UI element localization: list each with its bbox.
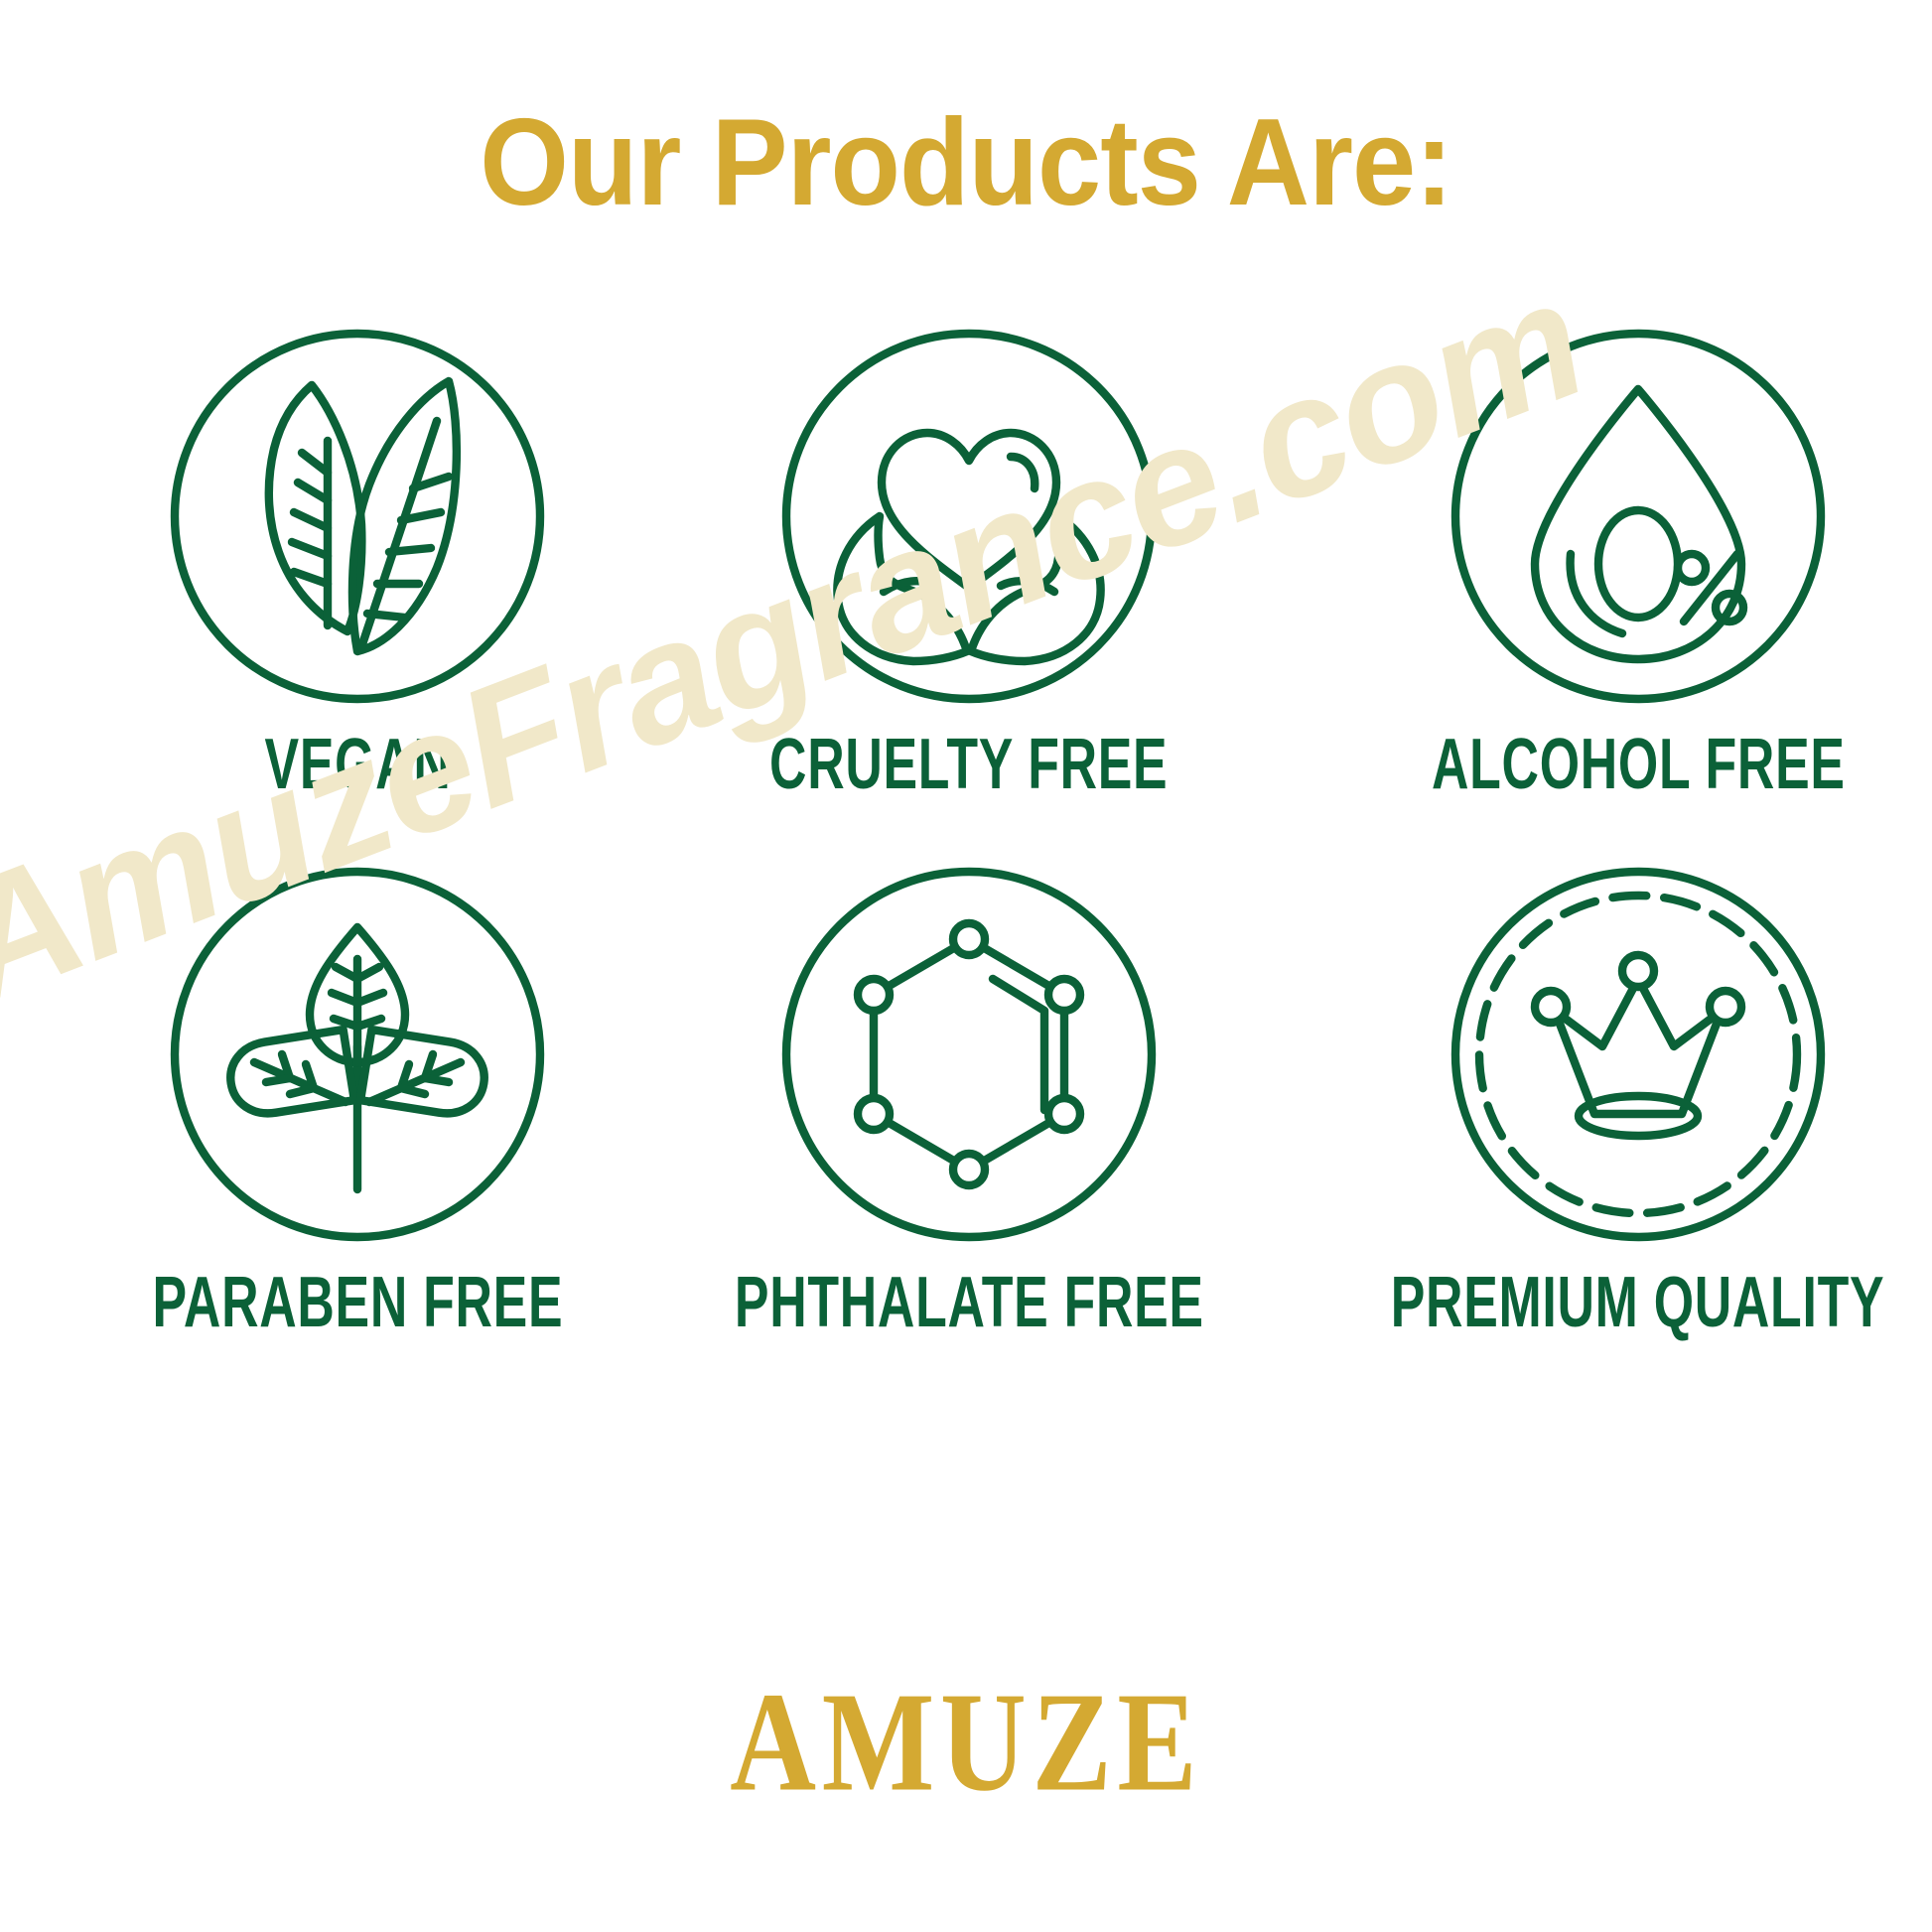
badge-label-premium-quality: PREMIUM QUALITY — [1391, 1267, 1885, 1338]
crown-icon — [1440, 856, 1837, 1253]
badge-phthalate-free[interactable]: PHTHALATE FREE — [643, 856, 1296, 1338]
brand-logo-text: AMUZE — [730, 1671, 1202, 1813]
badge-premium-quality[interactable]: PREMIUM QUALITY — [1295, 856, 1932, 1338]
molecule-hexagon-icon — [770, 856, 1168, 1253]
badge-label-cruelty-free: CRUELTY FREE — [769, 729, 1168, 800]
badge-alcohol-free[interactable]: ALCOHOL FREE — [1295, 318, 1932, 800]
two-leaves-icon — [159, 318, 556, 715]
badge-cruelty-free[interactable]: CRUELTY FREE — [643, 318, 1296, 800]
heart-in-hands-icon — [770, 318, 1168, 715]
badge-label-phthalate-free: PHTHALATE FREE — [735, 1267, 1204, 1338]
badge-paraben-free[interactable]: PARABEN FREE — [72, 856, 643, 1338]
poster-canvas: Our Products Are: — [0, 0, 1932, 1932]
page-title: Our Products Are: — [68, 95, 1864, 230]
badge-grid: VEGAN CRUELTY FREE — [72, 318, 1860, 1338]
water-drop-zero-percent-icon — [1440, 318, 1837, 715]
badge-label-alcohol-free: ALCOHOL FREE — [1432, 729, 1846, 800]
brand-logo: AMUZE — [0, 1686, 1932, 1813]
plant-sprout-icon — [159, 856, 556, 1253]
badge-label-paraben-free: PARABEN FREE — [152, 1267, 563, 1338]
badge-vegan[interactable]: VEGAN — [72, 318, 643, 800]
badge-label-vegan: VEGAN — [264, 729, 451, 800]
